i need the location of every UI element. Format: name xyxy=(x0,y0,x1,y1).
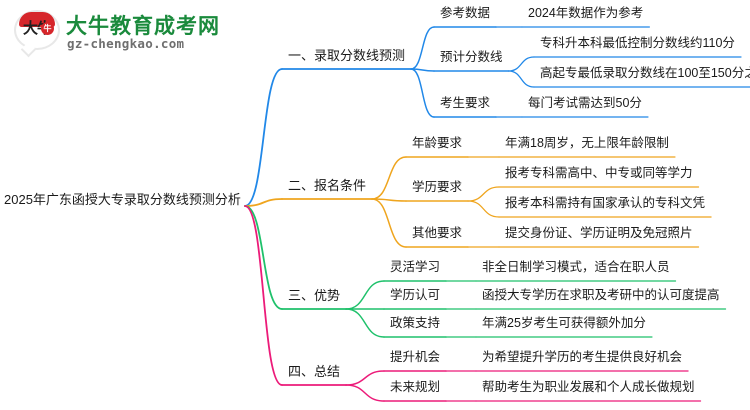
logo-badge-mark: 牛 xyxy=(41,22,54,35)
subnode-1-1[interactable]: 参考数据 xyxy=(440,7,490,20)
subnode-1-3[interactable]: 考生要求 xyxy=(440,97,490,110)
subnode-3-3[interactable]: 政策支持 xyxy=(390,317,440,330)
subnode-2-2[interactable]: 学历要求 xyxy=(412,181,462,194)
logo-site-url: gz-chengkao.com xyxy=(67,36,184,51)
leaf-node-2-3-1[interactable]: 提交身份证、学历证明及免冠照片 xyxy=(505,227,693,240)
branch-node-1[interactable]: 一、录取分数线预测 xyxy=(288,49,405,62)
leaf-node-2-2-2[interactable]: 报考本科需持有国家承认的专科文凭 xyxy=(505,197,705,210)
leaf-node-3-1-1[interactable]: 非全日制学习模式，适合在职人员 xyxy=(482,261,670,274)
leaf-node-1-3-1[interactable]: 每门考试需达到50分 xyxy=(528,97,642,110)
subnode-2-3[interactable]: 其他要求 xyxy=(412,227,462,240)
subnode-4-1[interactable]: 提升机会 xyxy=(390,351,440,364)
leaf-node-3-3-1[interactable]: 年满25岁考生可获得额外加分 xyxy=(482,317,646,330)
leaf-node-1-2-1[interactable]: 专科升本科最低控制分数线约110分 xyxy=(540,37,735,50)
subnode-2-1[interactable]: 年龄要求 xyxy=(412,137,462,150)
root-node[interactable]: 2025年广东函授大专录取分数线预测分析 xyxy=(4,193,241,206)
leaf-node-3-2-1[interactable]: 函授大专学历在求职及考研中的认可度提高 xyxy=(482,289,720,302)
leaf-node-1-2-2[interactable]: 高起专最低录取分数线在100至150分之间 xyxy=(540,67,750,80)
subnode-3-1[interactable]: 灵活学习 xyxy=(390,261,440,274)
branch-node-2[interactable]: 二、报名条件 xyxy=(288,179,366,192)
branch-node-4[interactable]: 四、总结 xyxy=(288,365,340,378)
leaf-node-2-2-1[interactable]: 报考专科需高中、中专或同等学力 xyxy=(505,167,693,180)
subnode-1-2[interactable]: 预计分数线 xyxy=(440,51,503,64)
logo-badge-icon: 大牛 牛 xyxy=(14,10,60,54)
subnode-3-2[interactable]: 学历认可 xyxy=(390,289,440,302)
leaf-node-4-1-1[interactable]: 为希望提升学历的考生提供良好机会 xyxy=(482,351,682,364)
site-logo: 大牛 牛 大牛教育成考网 gz-chengkao.com xyxy=(14,6,204,58)
branch-node-3[interactable]: 三、优势 xyxy=(288,289,340,302)
subnode-4-2[interactable]: 未来规划 xyxy=(390,381,440,394)
mindmap-canvas: 大牛 牛 大牛教育成考网 gz-chengkao.com 2025年广东函授大专… xyxy=(0,0,750,410)
leaf-node-4-2-1[interactable]: 帮助考生为职业发展和个人成长做规划 xyxy=(482,381,695,394)
leaf-node-1-1-1[interactable]: 2024年数据作为参考 xyxy=(528,7,643,20)
leaf-node-2-1-1[interactable]: 年满18周岁，无上限年龄限制 xyxy=(505,137,669,150)
